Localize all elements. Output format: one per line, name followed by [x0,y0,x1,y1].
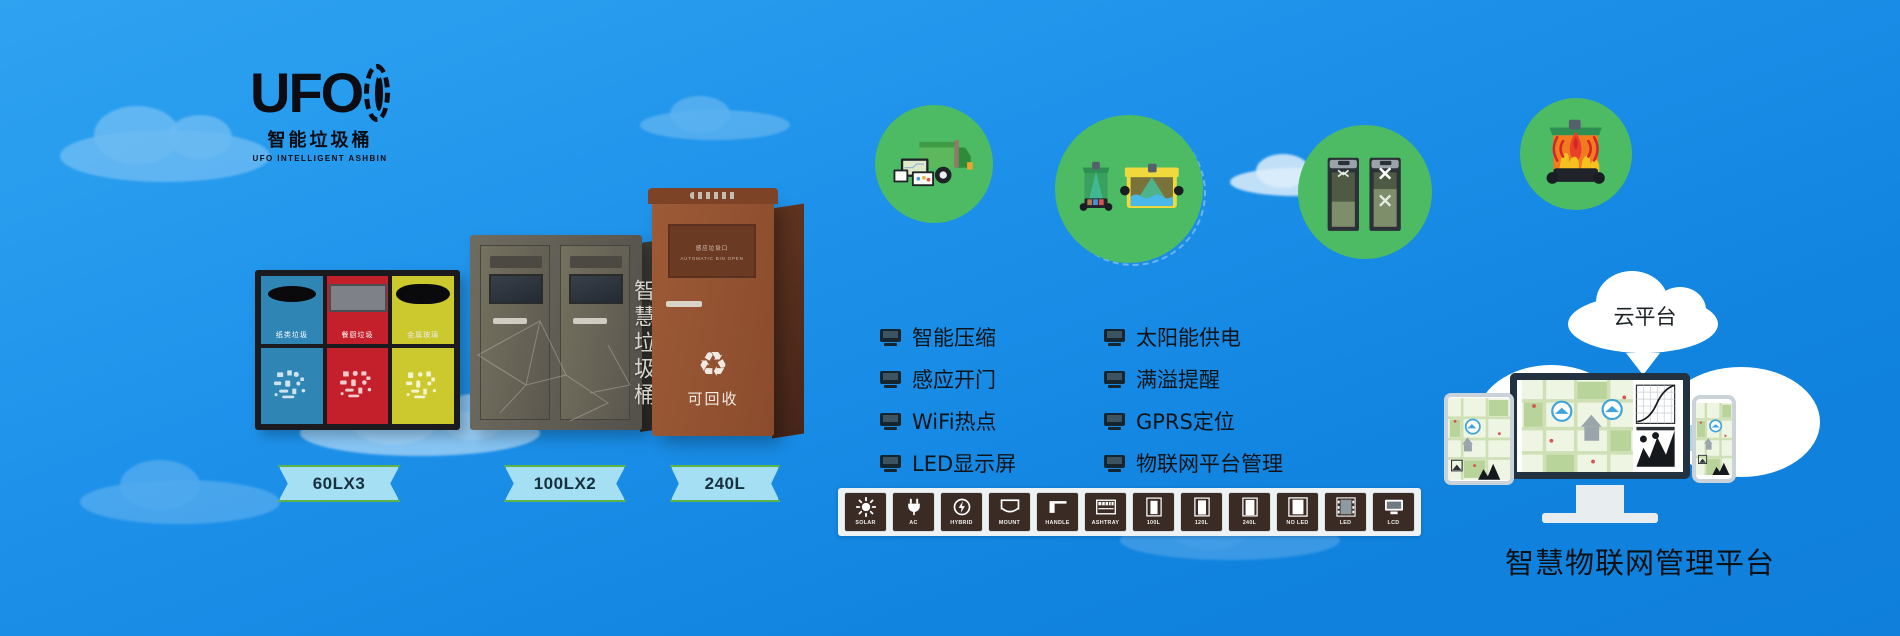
monitor-icon [880,329,901,346]
monitor-icon [1104,455,1125,472]
ashtray-icon [1093,496,1119,518]
bin-240l-icon [1237,496,1263,518]
feature-label: 满溢提醒 [1136,364,1220,394]
oval-slot-icon [268,286,316,302]
capacity-banner-240l: 240L [670,465,780,502]
led-icon [1333,496,1359,518]
feature-label: 物联网平台管理 [1136,448,1283,478]
handle-icon [1045,496,1071,518]
bin-compaction-icon [1071,131,1186,246]
mesh-pattern-decoration [470,235,642,430]
feature-label: 太阳能供电 [1136,322,1241,352]
option-hybrid[interactable]: HYBRID [940,492,983,532]
recycle-icon: ♻ [698,348,728,382]
bin-side-panel [772,203,804,438]
bin-handle [666,301,702,307]
feature-label: 智能压缩 [912,322,996,352]
monitor-icon [1104,329,1125,346]
option-100l[interactable]: 100L [1132,492,1175,532]
compartment-label: 纸类垃圾 [276,330,308,340]
map-dashboard-icon [1448,397,1510,481]
feature-label: 感应开门 [912,364,996,394]
cloud-decoration [60,130,270,182]
option-label: 120L [1195,520,1209,526]
bin-compartment-blue: 纸类垃圾 [261,276,327,424]
feature-label: WiFi热点 [912,406,997,436]
map-dashboard-icon [1696,399,1732,479]
option-label: 240L [1243,520,1257,526]
option-no-led[interactable]: NO LED [1276,492,1319,532]
feature-item: LED显示屏 [880,448,1076,478]
panel-slot-icon [329,284,387,312]
cloud-platform-label: 云平台 [1580,301,1710,331]
bin-cap-vents [690,192,736,199]
feature-item: 物联网平台管理 [1104,448,1300,478]
platform-caption: 智慧物联网管理平台 [1430,540,1850,582]
circle-fire-alarm [1520,98,1632,210]
monitor-icon [880,371,901,388]
round-slot-icon [396,284,450,304]
monitor-foot [1542,513,1658,523]
tablet-device [1444,393,1514,485]
feature-item: 满溢提醒 [1104,364,1300,394]
option-label: HYBRID [950,520,972,526]
option-led[interactable]: LED [1324,492,1367,532]
bin-120l-icon [1189,496,1215,518]
option-label: ASHTRAY [1092,520,1120,526]
sun-icon [853,496,879,518]
brand-logo: UFO 智能垃圾桶 UFO INTELLIGENT ASHBIN [250,62,390,163]
feature-label: LED显示屏 [912,448,1016,478]
option-label: 100L [1147,520,1161,526]
option-solar[interactable]: SOLAR [844,492,887,532]
feature-list: 智能压缩 太阳能供电 感应开门 满溢提醒 WiFi热点 GPRS定位 LED显示… [880,322,1300,478]
map-dashboard-icon [1517,380,1683,472]
feature-item: 太阳能供电 [1104,322,1300,352]
twin-bin-fill-icon [1313,140,1418,245]
hybrid-power-icon [949,496,975,518]
bin-compartment-yellow: 金属玻璃 [392,276,454,424]
bin-body: 智慧垃圾桶 [470,235,642,430]
circle-fill-level [1298,125,1432,259]
triple-colour-bin: 纸类垃圾 餐厨垃圾 [255,270,460,430]
waste-illustration-icon [332,359,383,412]
feature-item: 感应开门 [880,364,1076,394]
capacity-banner-100lx2: 100LX2 [504,465,626,502]
no-led-icon [1285,496,1311,518]
banner-stage: UFO 智能垃圾桶 UFO INTELLIGENT ASHBIN 纸类垃圾 [0,0,1900,636]
ufo-gear-logo-icon [364,64,390,122]
compartment-label: 餐厨垃圾 [342,330,374,340]
bin-body: 感应垃圾口 AUTOMATIC BIN OPEN ♻ 可回收 [652,198,774,436]
feature-item: 智能压缩 [880,322,1076,352]
option-label: SOLAR [855,520,875,526]
bin-fire-alarm-icon [1532,110,1619,197]
option-label: HANDLE [1045,520,1069,526]
feature-label: GPRS定位 [1136,406,1235,436]
lcd-icon [1381,496,1407,518]
bin-display-panel: 感应垃圾口 AUTOMATIC BIN OPEN [668,224,756,278]
brown-recycle-bin: 感应垃圾口 AUTOMATIC BIN OPEN ♻ 可回收 [652,198,774,436]
logo-name-cn: 智能垃圾桶 [250,126,390,152]
option-mount[interactable]: MOUNT [988,492,1031,532]
option-label: NO LED [1286,520,1308,526]
option-label: LED [1340,520,1352,526]
option-icon-strip: SOLAR AC HYBRID MOUNT [838,488,1421,536]
circle-fleet-management [875,105,993,223]
smartphone-device [1692,395,1736,483]
option-240l[interactable]: 240L [1228,492,1271,532]
feature-item: GPRS定位 [1104,406,1300,436]
logo-name-en: UFO INTELLIGENT ASHBIN [250,154,390,163]
bin-100l-icon [1141,496,1167,518]
bin-body-label: 可回收 [652,388,774,409]
option-120l[interactable]: 120L [1180,492,1223,532]
grey-twin-bin: 智慧垃圾桶 [470,235,642,430]
monitor-stand [1576,485,1624,515]
logo-wordmark: UFO [250,65,362,121]
feature-item: WiFi热点 [880,406,1076,436]
waste-illustration-icon [398,359,449,412]
panel-title-en: AUTOMATIC BIN OPEN [670,256,754,261]
desktop-monitor-device [1510,373,1690,479]
cloud-platform-illustration: 云平台 [1430,295,1850,595]
capacity-banner-60lx3: 60LX3 [278,465,400,502]
bin-compartment-red: 餐厨垃圾 [327,276,393,424]
panel-title-cn: 感应垃圾口 [670,244,754,252]
monitor-icon [1104,371,1125,388]
circle-compaction [1055,115,1203,263]
down-arrow-head [1626,353,1660,375]
wall-mount-icon [997,496,1023,518]
option-handle[interactable]: HANDLE [1036,492,1079,532]
option-label: MOUNT [999,520,1020,526]
power-plug-icon [901,496,927,518]
monitor-icon [1104,413,1125,430]
option-label: AC [909,520,917,526]
cloud-decoration [80,480,280,524]
option-label: LCD [1388,520,1400,526]
compartment-label: 金属玻璃 [407,330,439,340]
logo-mark: UFO [250,62,390,124]
garbage-truck-and-devices-icon [888,118,980,210]
monitor-icon [880,455,901,472]
option-ashtray[interactable]: ASHTRAY [1084,492,1127,532]
option-ac[interactable]: AC [892,492,935,532]
monitor-icon [880,413,901,430]
waste-illustration-icon [267,359,318,412]
cloud-decoration [640,110,790,140]
option-lcd[interactable]: LCD [1372,492,1415,532]
